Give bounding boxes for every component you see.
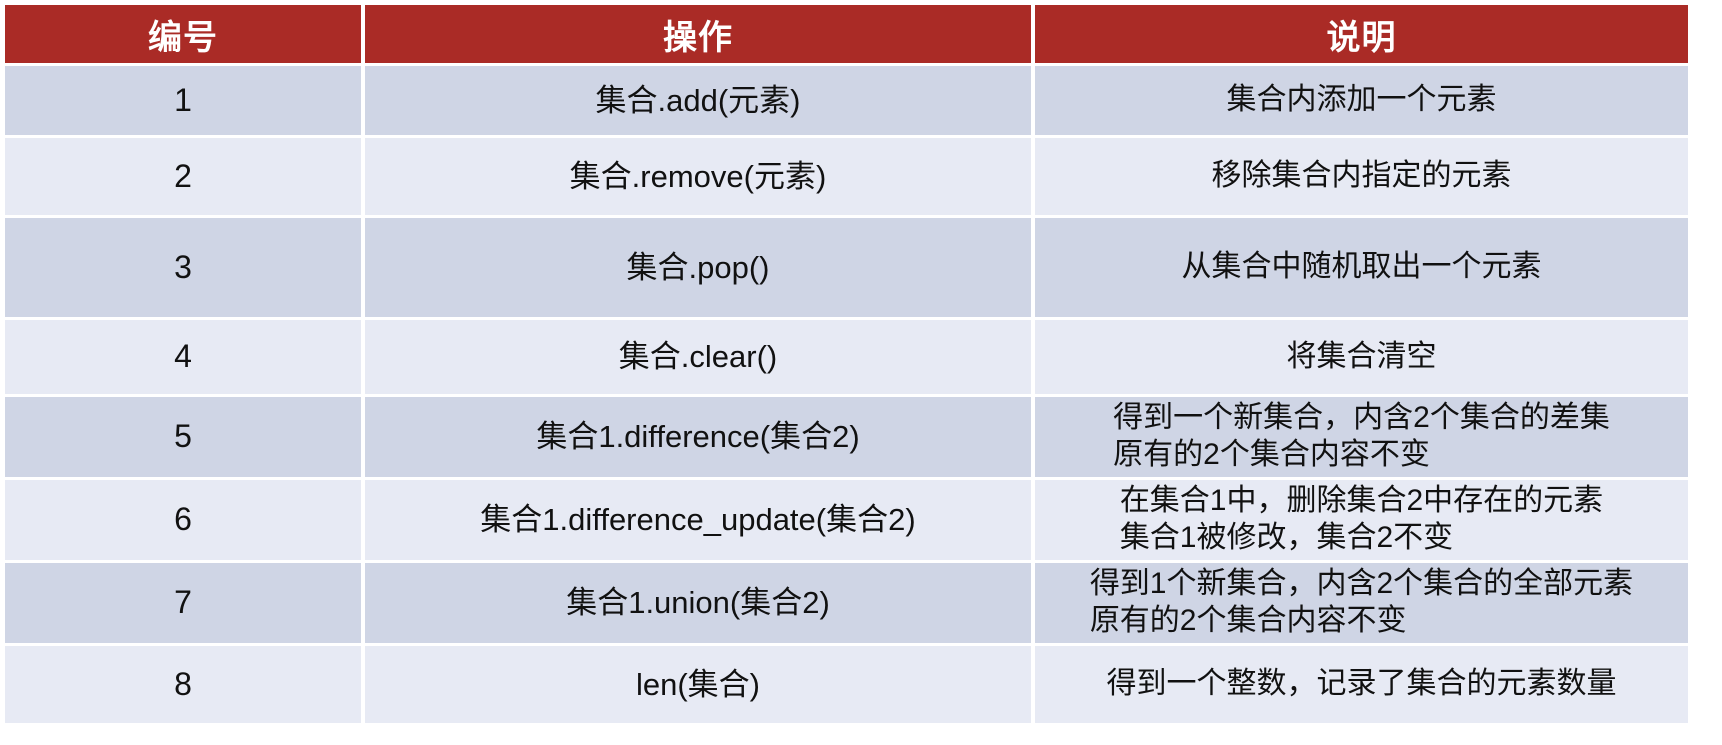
description-text: 移除集合内指定的元素 [1212, 158, 1512, 195]
cell-id: 8 [5, 646, 365, 726]
description-text: 得到一个新集合，内含2个集合的差集 原有的2个集合内容不变 [1113, 400, 1610, 473]
table-row: 4 集合.clear() 将集合清空 [5, 320, 1688, 397]
cell-id: 1 [5, 66, 365, 138]
cell-description: 得到一个整数，记录了集合的元素数量 [1035, 646, 1688, 726]
cell-description: 得到1个新集合，内含2个集合的全部元素 原有的2个集合内容不变 [1035, 563, 1688, 646]
table-row: 8 len(集合) 得到一个整数，记录了集合的元素数量 [5, 646, 1688, 726]
table-row: 1 集合.add(元素) 集合内添加一个元素 [5, 66, 1688, 138]
description-text: 将集合清空 [1287, 339, 1437, 376]
cell-id: 6 [5, 480, 365, 563]
table-row: 3 集合.pop() 从集合中随机取出一个元素 [5, 218, 1688, 320]
table-row: 5 集合1.difference(集合2) 得到一个新集合，内含2个集合的差集 … [5, 397, 1688, 480]
table-row: 6 集合1.difference_update(集合2) 在集合1中，删除集合2… [5, 480, 1688, 563]
table-row: 7 集合1.union(集合2) 得到1个新集合，内含2个集合的全部元素 原有的… [5, 563, 1688, 646]
column-header-description: 说明 [1035, 5, 1688, 66]
cell-operation: 集合.add(元素) [365, 66, 1035, 138]
cell-id: 4 [5, 320, 365, 397]
description-text: 得到一个整数，记录了集合的元素数量 [1107, 666, 1617, 703]
cell-operation: 集合1.difference(集合2) [365, 397, 1035, 480]
cell-description: 集合内添加一个元素 [1035, 66, 1688, 138]
table-header: 编号 操作 说明 [5, 5, 1688, 66]
cell-description: 将集合清空 [1035, 320, 1688, 397]
column-header-operation: 操作 [365, 5, 1035, 66]
description-text: 在集合1中，删除集合2中存在的元素 集合1被修改，集合2不变 [1120, 483, 1603, 556]
set-operations-table: 编号 操作 说明 1 集合.add(元素) 集合内添加一个元素 2 集合.rem… [5, 5, 1688, 726]
cell-id: 2 [5, 138, 365, 218]
cell-operation: 集合1.union(集合2) [365, 563, 1035, 646]
cell-description: 移除集合内指定的元素 [1035, 138, 1688, 218]
header-row: 编号 操作 说明 [5, 5, 1688, 66]
cell-operation: 集合.remove(元素) [365, 138, 1035, 218]
cell-operation: len(集合) [365, 646, 1035, 726]
table-body: 1 集合.add(元素) 集合内添加一个元素 2 集合.remove(元素) 移… [5, 66, 1688, 726]
cell-id: 5 [5, 397, 365, 480]
cell-operation: 集合.clear() [365, 320, 1035, 397]
cell-operation: 集合.pop() [365, 218, 1035, 320]
cell-id: 3 [5, 218, 365, 320]
ops-table-container: 编号 操作 说明 1 集合.add(元素) 集合内添加一个元素 2 集合.rem… [5, 5, 1688, 745]
cell-description: 在集合1中，删除集合2中存在的元素 集合1被修改，集合2不变 [1035, 480, 1688, 563]
table-row: 2 集合.remove(元素) 移除集合内指定的元素 [5, 138, 1688, 218]
description-text: 得到1个新集合，内含2个集合的全部元素 原有的2个集合内容不变 [1090, 566, 1633, 639]
description-text: 从集合中随机取出一个元素 [1182, 249, 1542, 286]
cell-operation: 集合1.difference_update(集合2) [365, 480, 1035, 563]
column-header-id: 编号 [5, 5, 365, 66]
description-text: 集合内添加一个元素 [1227, 82, 1497, 119]
cell-description: 得到一个新集合，内含2个集合的差集 原有的2个集合内容不变 [1035, 397, 1688, 480]
cell-description: 从集合中随机取出一个元素 [1035, 218, 1688, 320]
cell-id: 7 [5, 563, 365, 646]
